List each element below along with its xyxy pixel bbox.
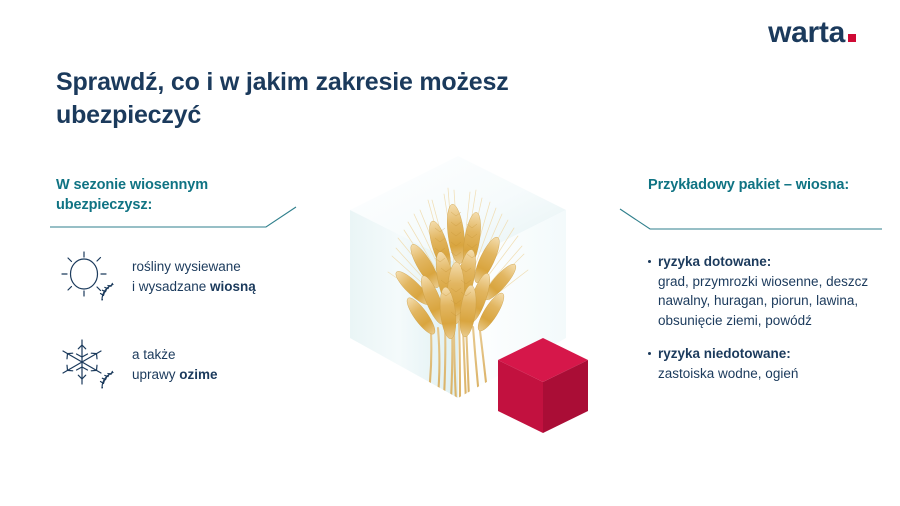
feature-item-spring: rośliny wysiewane i wysadzane wiosną bbox=[56, 248, 256, 306]
feature-line-2-bold: wiosną bbox=[210, 279, 256, 294]
bullet-title: ryzyka dotowane: bbox=[658, 252, 883, 272]
right-panel-heading: Przykładowy pakiet – wiosna: bbox=[648, 176, 878, 196]
bullet-dot-icon bbox=[648, 260, 651, 263]
feature-line-2-bold: ozime bbox=[179, 367, 217, 382]
bullet-item: ryzyka dotowane: grad, przymrozki wiosen… bbox=[648, 252, 883, 330]
page-title: Sprawdź, co i w jakim zakresie możesz ub… bbox=[56, 66, 516, 132]
feature-label-winter: a także uprawy ozime bbox=[132, 345, 218, 384]
cube-wheat-illustration bbox=[288, 148, 628, 448]
bullet-dot-icon bbox=[648, 352, 651, 355]
feature-line-2-prefix: uprawy bbox=[132, 367, 179, 382]
risk-bullet-list: ryzyka dotowane: grad, przymrozki wiosen… bbox=[648, 252, 883, 397]
bullet-body: zastoiska wodne, ogień bbox=[658, 364, 883, 384]
feature-item-winter: a także uprawy ozime bbox=[56, 336, 218, 394]
right-divider bbox=[620, 208, 882, 232]
feature-line-2-prefix: i wysadzane bbox=[132, 279, 210, 294]
bullet-body: grad, przymrozki wiosenne, deszcz nawaln… bbox=[658, 272, 883, 331]
bullet-title: ryzyka niedotowane: bbox=[658, 344, 883, 364]
bullet-item: ryzyka niedotowane: zastoiska wodne, ogi… bbox=[648, 344, 883, 383]
snowflake-wheat-icon bbox=[56, 336, 132, 394]
warta-logo: warta bbox=[768, 18, 856, 48]
feature-label-spring: rośliny wysiewane i wysadzane wiosną bbox=[132, 257, 256, 296]
logo-dot-icon bbox=[848, 34, 856, 42]
feature-line-1: a także bbox=[132, 347, 176, 362]
infographic-page: warta Sprawdź, co i w jakim zakresie moż… bbox=[0, 0, 900, 506]
feature-line-1: rośliny wysiewane bbox=[132, 259, 241, 274]
logo-wordmark: warta bbox=[768, 18, 845, 48]
left-divider bbox=[50, 206, 296, 230]
sun-wheat-icon bbox=[56, 248, 132, 306]
